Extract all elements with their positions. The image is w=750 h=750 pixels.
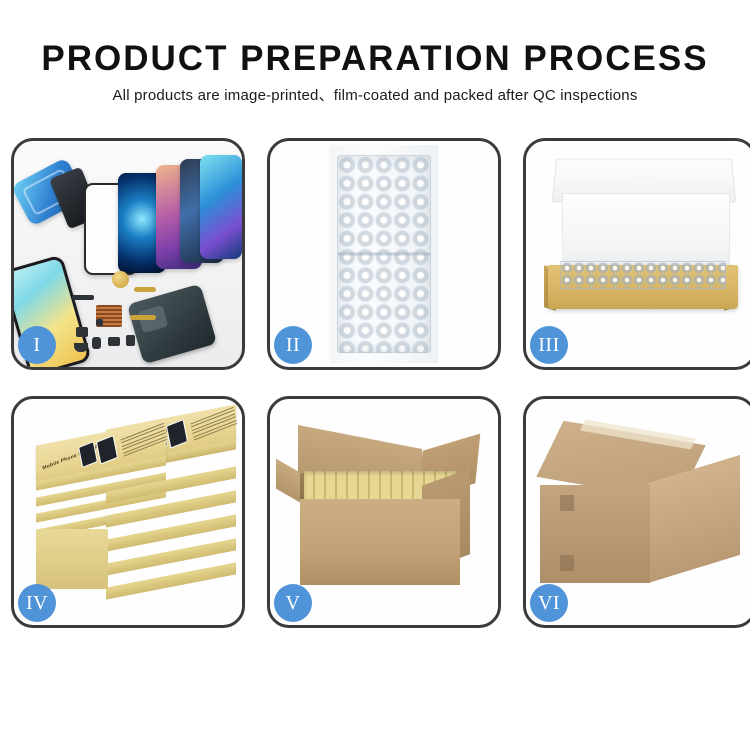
box-spec-lines-1	[190, 407, 237, 443]
step-panel-v: V	[267, 396, 501, 628]
step-badge-v: V	[274, 584, 312, 622]
wrapped-product-in-box	[560, 261, 726, 289]
small-part-6	[74, 343, 88, 352]
step-i-image: I	[14, 141, 242, 367]
product-preparation-infographic: PRODUCT PREPARATION PROCESS All products…	[0, 0, 750, 750]
flex-cable-1	[134, 287, 156, 292]
box-spec-lines-2	[120, 423, 167, 459]
step-vi-image: VI	[526, 399, 750, 625]
page-title: PRODUCT PREPARATION PROCESS	[0, 38, 750, 80]
box-screen-image-4	[96, 435, 118, 465]
step-badge-iv: IV	[18, 584, 56, 622]
step-v-image: V	[270, 399, 498, 625]
step-ii-image: II	[270, 141, 498, 367]
inner-box-stack: Mobile Phone Spare Parts Mobile Phone Sp…	[20, 417, 242, 615]
bubble-wrap-bubbles	[337, 155, 431, 353]
header: PRODUCT PREPARATION PROCESS All products…	[0, 0, 750, 106]
box-screen-image-2	[166, 419, 188, 449]
small-part-1	[72, 295, 94, 300]
carton-handle-cut-1	[560, 495, 574, 511]
step-panel-iv: Mobile Phone Spare Parts Mobile Phone Sp…	[11, 396, 245, 628]
steps-grid: I II III	[11, 138, 739, 628]
step-panel-i: I	[11, 138, 245, 370]
carton-front-panel	[300, 499, 460, 585]
step-badge-vi: VI	[530, 584, 568, 622]
small-part-2	[76, 327, 88, 337]
page-subtitle: All products are image-printed、film-coat…	[0, 86, 750, 106]
step-badge-iii: III	[530, 326, 568, 364]
screw-1	[96, 319, 103, 326]
inner-box-side-face	[36, 529, 108, 589]
step-iv-image: Mobile Phone Spare Parts Mobile Phone Sp…	[14, 399, 242, 625]
step-badge-ii: II	[274, 326, 312, 364]
small-part-4	[108, 337, 120, 346]
sealed-carton-front	[540, 485, 650, 583]
small-part-5	[126, 335, 135, 346]
step-badge-i: I	[18, 326, 56, 364]
carton-handle-cut-2	[560, 555, 574, 571]
step-iii-image: III	[526, 141, 750, 367]
camera-ring-part	[112, 271, 129, 288]
step-panel-iii: III	[523, 138, 750, 370]
step-panel-vi: VI	[523, 396, 750, 628]
step-panel-ii: II	[267, 138, 501, 370]
phone-teal-display	[200, 155, 242, 259]
small-part-3	[92, 337, 101, 349]
bubble-wrap-seam	[338, 253, 430, 256]
spare-parts-group	[72, 281, 192, 363]
flex-cable-2	[130, 315, 156, 320]
